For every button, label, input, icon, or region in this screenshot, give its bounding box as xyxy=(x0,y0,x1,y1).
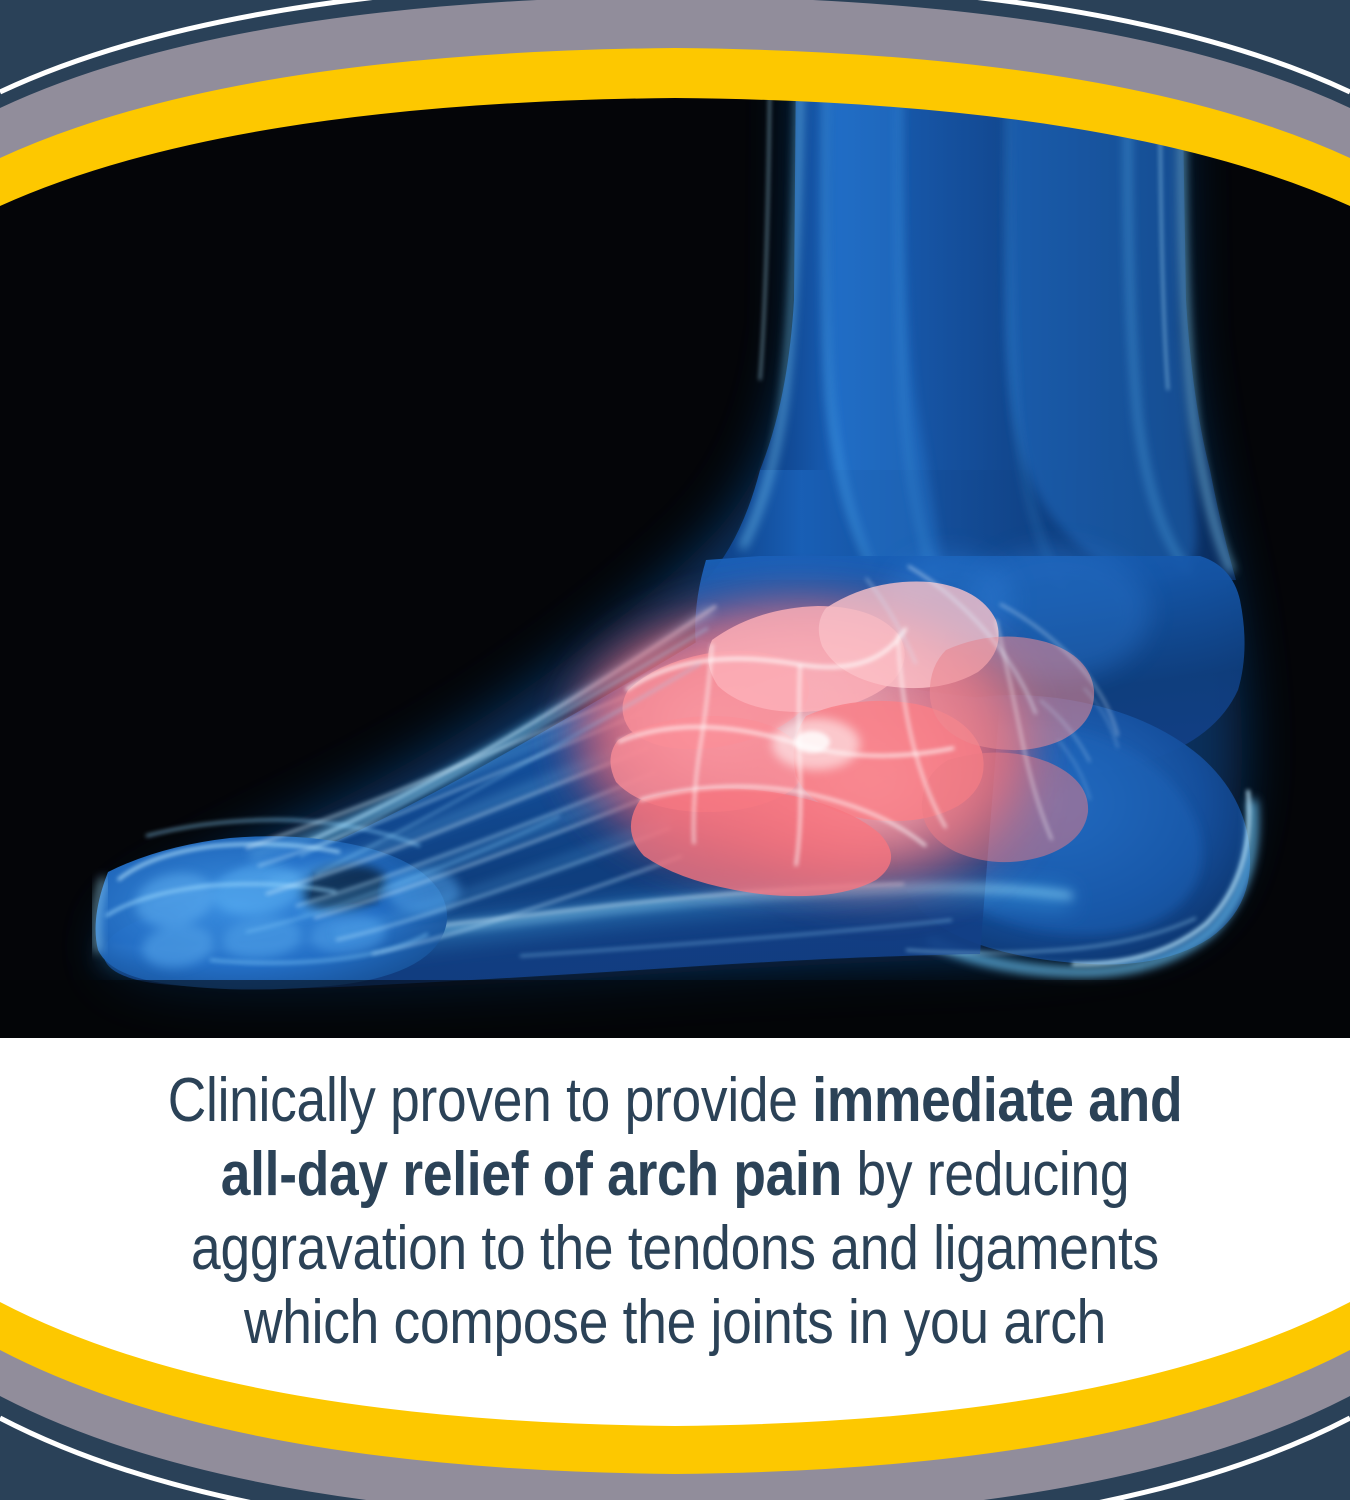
caption-line-2-plain: by reducing xyxy=(842,1140,1129,1209)
xray-stage xyxy=(0,0,1350,1038)
product-feature-poster: Clinically proven to provide immediate a… xyxy=(0,0,1350,1500)
caption-area: Clinically proven to provide immediate a… xyxy=(0,1038,1350,1500)
caption-line-4: which compose the joints in you arch xyxy=(168,1286,1183,1360)
caption-line-1-plain: Clinically proven to provide xyxy=(168,1066,813,1135)
caption-paragraph: Clinically proven to provide immediate a… xyxy=(85,1064,1265,1360)
caption-line-2: all-day relief of arch pain by reducing xyxy=(168,1138,1183,1212)
caption-line-2-bold: all-day relief of arch pain xyxy=(221,1140,842,1209)
caption-line-3: aggravation to the tendons and ligaments xyxy=(168,1212,1183,1286)
xray-foot-illustration xyxy=(0,0,1350,1038)
arc-gray-bottom xyxy=(0,1350,1350,1500)
caption-line-1-bold: immediate and xyxy=(812,1066,1182,1135)
xray-image-panel xyxy=(0,0,1350,1038)
caption-line-1: Clinically proven to provide immediate a… xyxy=(168,1064,1183,1138)
arc-navy-bottom xyxy=(0,1396,1350,1500)
arc-white-line-bottom xyxy=(0,1418,1350,1500)
